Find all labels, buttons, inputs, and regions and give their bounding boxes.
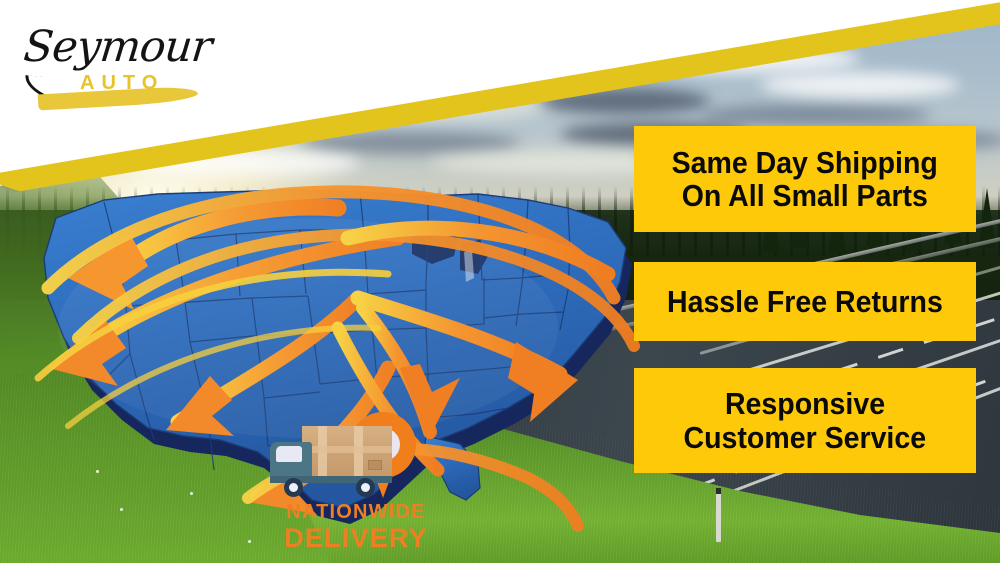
delivery-label-line2: DELIVERY (268, 525, 444, 552)
banner-line: Responsive (725, 387, 885, 420)
logo-subtext: AUTO (80, 72, 164, 95)
banner-responsive-customer-service[interactable]: Responsive Customer Service (634, 368, 976, 473)
banner-same-day-shipping[interactable]: Same Day Shipping On All Small Parts (634, 126, 976, 232)
banner-line: Customer Service (684, 421, 927, 454)
roadside-marker-post (716, 488, 721, 542)
banner-hassle-free-returns[interactable]: Hassle Free Returns (634, 262, 976, 341)
seymour-auto-logo[interactable]: Seymour AUTO (18, 18, 248, 108)
nationwide-map-graphic: NATIONWIDE DELIVERY (8, 178, 668, 548)
promo-banner-canvas: Seymour AUTO (0, 0, 1000, 563)
logo-wordmark: Seymour (21, 22, 213, 72)
nationwide-delivery-badge: NATIONWIDE DELIVERY (270, 406, 440, 536)
banner-line: On All Small Parts (682, 179, 928, 212)
cloud (760, 72, 960, 98)
delivery-label: NATIONWIDE DELIVERY (268, 502, 444, 552)
banner-line: Hassle Free Returns (667, 285, 943, 318)
banner-line: Same Day Shipping (672, 146, 938, 179)
cloud (700, 104, 930, 126)
delivery-truck-icon (270, 426, 392, 502)
delivery-label-line1: NATIONWIDE (268, 502, 444, 522)
